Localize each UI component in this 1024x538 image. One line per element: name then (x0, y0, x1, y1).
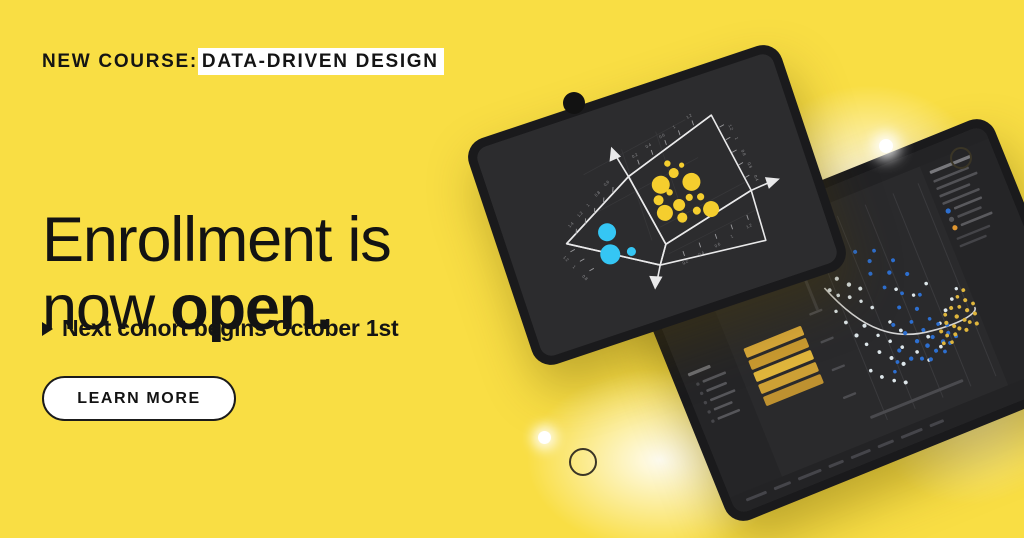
dot-white-right (879, 139, 893, 153)
triangle-right-icon (42, 322, 53, 336)
dot-ring-right (950, 147, 972, 169)
headline-line-1: Enrollment is (42, 205, 391, 275)
promo-banner: 1.4 1.2 1 0.8 0.6 0.2 0.4 0.6 1 1.2 1.2 … (0, 0, 1024, 538)
subheading-text: Next cohort begins October 1st (62, 315, 399, 342)
dot-ring-bottom (569, 448, 597, 476)
dot-white-bottom (538, 431, 551, 444)
subheading: Next cohort begins October 1st (42, 315, 399, 342)
copy-block: NEW COURSE:DATA-DRIVEN DESIGN Enrollment… (42, 0, 512, 538)
eyebrow: NEW COURSE:DATA-DRIVEN DESIGN (42, 50, 444, 74)
eyebrow-prefix: NEW COURSE: (42, 49, 198, 74)
eyebrow-highlight: DATA-DRIVEN DESIGN (198, 48, 444, 75)
learn-more-button[interactable]: LEARN MORE (42, 376, 236, 421)
dot-black-top (563, 92, 585, 114)
